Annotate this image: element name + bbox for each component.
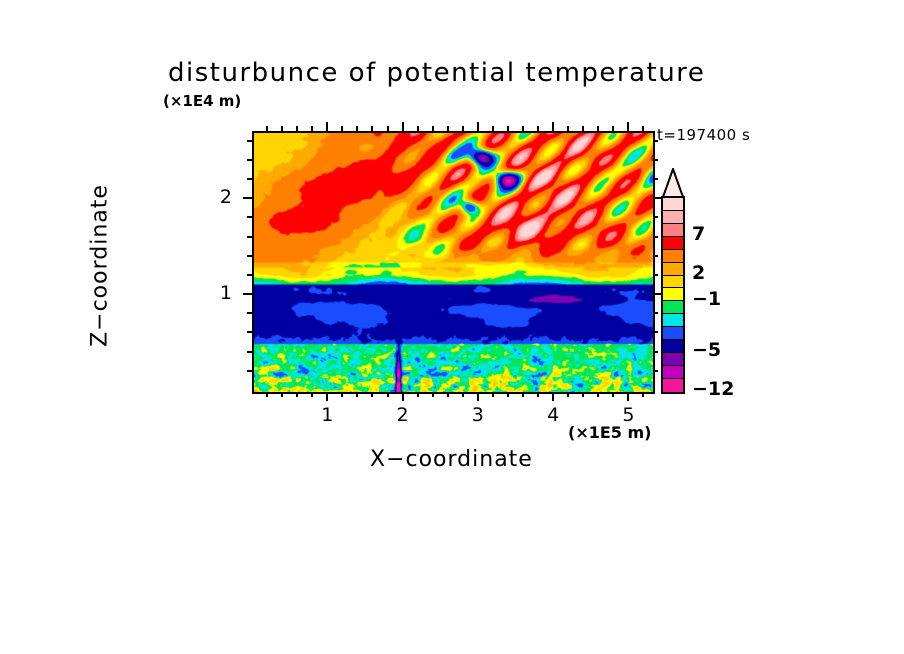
- x-tick-top-minor: [597, 126, 599, 131]
- y-tick-major: [243, 197, 252, 199]
- x-tick-top-minor: [642, 126, 644, 131]
- colorbar-tick-label: −12: [692, 378, 734, 400]
- y-tick-right-minor: [653, 216, 658, 218]
- x-tick-minor: [492, 392, 494, 397]
- x-tick-minor: [567, 392, 569, 397]
- x-tick-minor: [266, 392, 268, 397]
- figure-root: disturbunce of potential temperature (×1…: [0, 0, 904, 654]
- x-tick-top-major: [477, 122, 479, 131]
- x-tick-top-minor: [296, 126, 298, 131]
- colorbar-band: [663, 211, 683, 224]
- colorbar-band: [663, 379, 683, 392]
- x-tick-minor: [432, 392, 434, 397]
- x-tick-label: 4: [538, 404, 568, 426]
- x-tick-top-major: [402, 122, 404, 131]
- x-tick-minor: [387, 392, 389, 397]
- colorbar-band: [663, 224, 683, 237]
- colorbar-band: [663, 353, 683, 366]
- y-tick-minor: [247, 178, 252, 180]
- x-tick-top-minor: [341, 126, 343, 131]
- y-tick-major: [243, 293, 252, 295]
- y-tick-right-minor: [653, 351, 658, 353]
- heatmap-canvas: [254, 133, 653, 392]
- x-tick-major: [402, 392, 404, 401]
- colorbar-tick-label: 2: [692, 262, 705, 284]
- y-tick-minor: [247, 351, 252, 353]
- x-tick-top-minor: [447, 126, 449, 131]
- x-tick-top-minor: [417, 126, 419, 131]
- x-tick-top-minor: [266, 126, 268, 131]
- x-tick-label: 2: [388, 404, 418, 426]
- x-tick-label: 1: [312, 404, 342, 426]
- colorbar-tick-label: −1: [692, 288, 721, 310]
- y-axis-title: Z−coordinate: [88, 116, 113, 416]
- colorbar-tick-label: −5: [692, 339, 721, 361]
- x-tick-top-minor: [387, 126, 389, 131]
- x-tick-minor: [296, 392, 298, 397]
- colorbar-band: [663, 198, 683, 211]
- x-tick-top-major: [627, 122, 629, 131]
- x-tick-minor: [537, 392, 539, 397]
- x-tick-major: [627, 392, 629, 401]
- page-title: disturbunce of potential temperature: [168, 58, 748, 88]
- colorbar-band: [663, 288, 683, 301]
- y-tick-minor: [247, 312, 252, 314]
- x-tick-top-minor: [537, 126, 539, 131]
- x-axis-unit-label: (×1E5 m): [568, 423, 651, 442]
- x-tick-top-minor: [507, 126, 509, 131]
- colorbar-band: [663, 237, 683, 250]
- y-tick-right-minor: [653, 140, 658, 142]
- x-tick-major: [326, 392, 328, 401]
- y-tick-right-minor: [653, 178, 658, 180]
- colorbar-band: [663, 301, 683, 314]
- y-tick-right-minor: [653, 255, 658, 257]
- x-tick-top-minor: [311, 126, 313, 131]
- x-tick-top-minor: [492, 126, 494, 131]
- colorbar-band: [663, 263, 683, 276]
- colorbar-tick-label: 7: [692, 223, 705, 245]
- colorbar-arrow-icon: [661, 168, 685, 198]
- colorbar-band: [663, 327, 683, 340]
- x-tick-label: 3: [463, 404, 493, 426]
- x-tick-top-major: [326, 122, 328, 131]
- y-tick-minor: [247, 274, 252, 276]
- x-tick-minor: [522, 392, 524, 397]
- x-tick-minor: [462, 392, 464, 397]
- x-tick-major: [477, 392, 479, 401]
- colorbar-band: [663, 340, 683, 353]
- x-tick-minor: [417, 392, 419, 397]
- x-tick-top-minor: [371, 126, 373, 131]
- colorbar-band: [663, 276, 683, 289]
- x-tick-minor: [281, 392, 283, 397]
- x-tick-minor: [507, 392, 509, 397]
- y-tick-right-minor: [653, 370, 658, 372]
- y-tick-minor: [247, 140, 252, 142]
- x-tick-top-major: [552, 122, 554, 131]
- x-axis-title: X−coordinate: [370, 447, 533, 472]
- colorbar-band: [663, 250, 683, 263]
- y-axis-unit-label: (×1E4 m): [163, 92, 241, 110]
- x-tick-minor: [341, 392, 343, 397]
- x-tick-top-minor: [522, 126, 524, 131]
- x-tick-minor: [371, 392, 373, 397]
- colorbar-band: [663, 366, 683, 379]
- colorbar[interactable]: [661, 196, 685, 394]
- x-tick-minor: [582, 392, 584, 397]
- y-tick-minor: [247, 236, 252, 238]
- y-tick-minor: [247, 331, 252, 333]
- y-tick-right-minor: [653, 312, 658, 314]
- x-tick-minor: [311, 392, 313, 397]
- x-tick-top-minor: [462, 126, 464, 131]
- y-tick-right-minor: [653, 274, 658, 276]
- x-tick-top-minor: [567, 126, 569, 131]
- y-tick-right-minor: [653, 159, 658, 161]
- y-tick-minor: [247, 370, 252, 372]
- colorbar-band: [663, 314, 683, 327]
- x-tick-top-minor: [281, 126, 283, 131]
- time-annotation: t=197400 s: [657, 126, 750, 144]
- plot-area[interactable]: [252, 131, 655, 394]
- x-tick-top-minor: [612, 126, 614, 131]
- x-tick-minor: [356, 392, 358, 397]
- x-tick-top-minor: [432, 126, 434, 131]
- y-tick-minor: [247, 255, 252, 257]
- y-tick-label: 2: [202, 186, 232, 208]
- y-tick-right-minor: [653, 236, 658, 238]
- y-tick-minor: [247, 216, 252, 218]
- y-tick-right-minor: [653, 331, 658, 333]
- x-tick-minor: [447, 392, 449, 397]
- x-tick-minor: [642, 392, 644, 397]
- x-tick-top-minor: [356, 126, 358, 131]
- x-tick-major: [552, 392, 554, 401]
- y-tick-minor: [247, 159, 252, 161]
- x-tick-minor: [612, 392, 614, 397]
- x-tick-minor: [597, 392, 599, 397]
- y-tick-label: 1: [202, 282, 232, 304]
- x-tick-top-minor: [582, 126, 584, 131]
